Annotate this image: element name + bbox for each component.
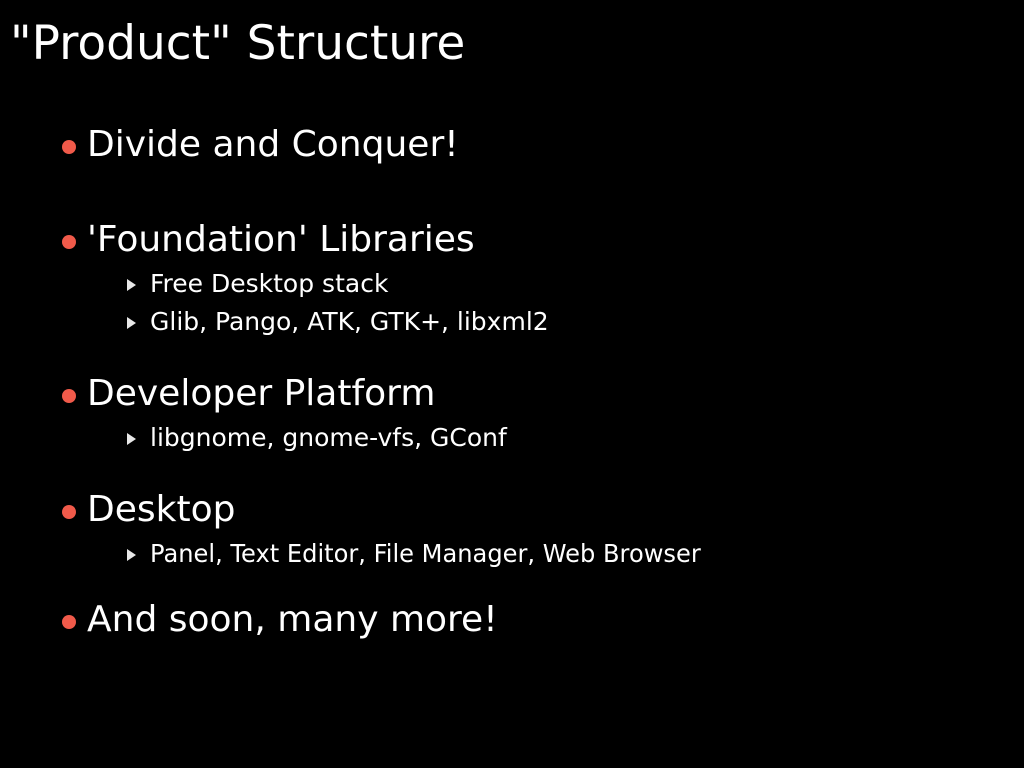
spacer [0,341,1024,369]
bullet-dot-icon [62,505,76,519]
page-title: "Product" Structure [10,16,465,72]
list-item-label: 'Foundation' Libraries [87,215,475,265]
bullet-dot-icon [62,615,76,629]
list-item-label: And soon, many more! [87,595,498,645]
bullet-group: 'Foundation' Libraries Free Desktop stac… [0,215,1024,341]
list-item-label: Desktop [87,485,235,535]
sub-list-item-label: Glib, Pango, ATK, GTK+, libxml2 [150,303,549,341]
bullet-group: Developer Platform libgnome, gnome-vfs, … [0,369,1024,457]
list-item-label: Divide and Conquer! [87,120,459,170]
sub-list-item[interactable]: Panel, Text Editor, File Manager, Web Br… [0,535,1024,573]
list-item[interactable]: 'Foundation' Libraries [0,215,1024,265]
list-item[interactable]: And soon, many more! [0,595,1024,645]
sub-list-item-label: Panel, Text Editor, File Manager, Web Br… [150,535,701,573]
list-item[interactable]: Desktop [0,485,1024,535]
spacer [0,457,1024,485]
bullet-dot-icon [62,389,76,403]
bullet-list: Divide and Conquer! 'Foundation' Librari… [0,120,1024,645]
list-item[interactable]: Divide and Conquer! [0,120,1024,170]
presentation-slide: "Product" Structure Divide and Conquer! … [0,0,1024,768]
spacer [0,170,1024,215]
sub-list-item[interactable]: Free Desktop stack [0,265,1024,303]
bullet-group: Divide and Conquer! [0,120,1024,170]
sub-list-item-label: libgnome, gnome-vfs, GConf [150,419,507,457]
bullet-group: Desktop Panel, Text Editor, File Manager… [0,485,1024,573]
bullet-dot-icon [62,235,76,249]
bullet-dot-icon [62,140,76,154]
sub-list-item[interactable]: libgnome, gnome-vfs, GConf [0,419,1024,457]
list-item[interactable]: Developer Platform [0,369,1024,419]
sub-list-item-label: Free Desktop stack [150,265,388,303]
triangle-right-icon [127,433,136,445]
triangle-right-icon [127,279,136,291]
spacer [0,573,1024,595]
list-item-label: Developer Platform [87,369,435,419]
triangle-right-icon [127,549,136,561]
sub-list-item[interactable]: Glib, Pango, ATK, GTK+, libxml2 [0,303,1024,341]
bullet-group: And soon, many more! [0,595,1024,645]
triangle-right-icon [127,317,136,329]
